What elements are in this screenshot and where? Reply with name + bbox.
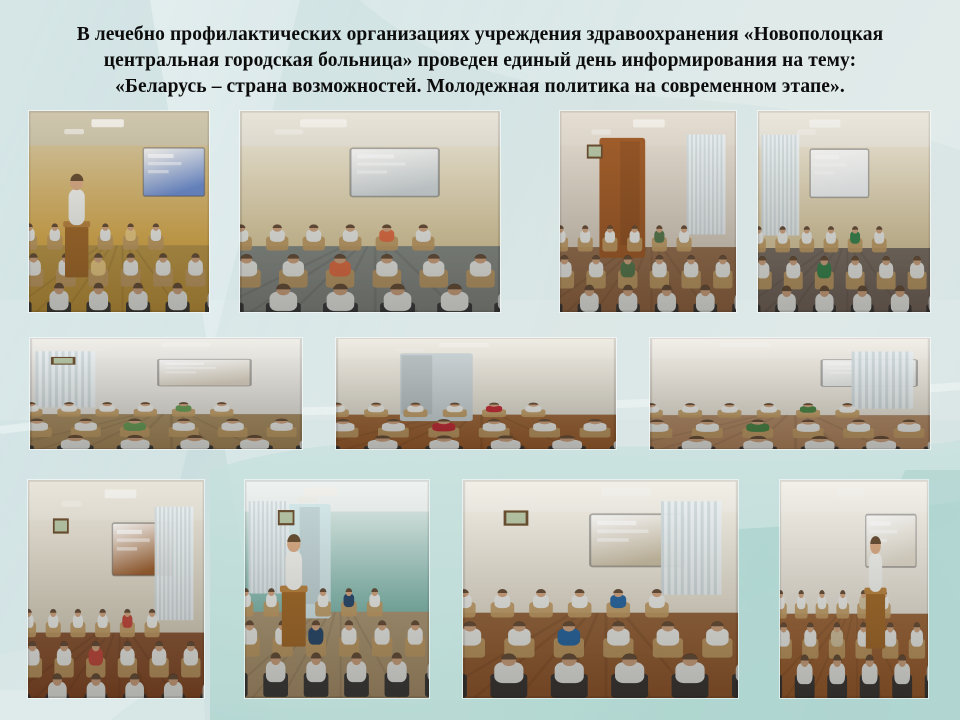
auditorium-nurses-in-white-on-beige-chairs bbox=[30, 338, 302, 449]
large-hall-seated-audience-parquet-floor bbox=[463, 480, 738, 698]
presentation-slide: В лечебно профилактических организациях … bbox=[0, 0, 960, 720]
slide-title: В лечебно профилактических организациях … bbox=[30, 22, 930, 100]
title-line-3: «Беларусь – страна возможностей. Молодеж… bbox=[30, 74, 930, 100]
conference-hall-back-view-with-projection-screen bbox=[758, 111, 930, 312]
lounge-meeting-with-plants-and-sofas bbox=[650, 338, 930, 449]
speaker-at-lectern-in-empty-hall bbox=[780, 480, 928, 698]
row-of-doctors-seated-by-wooden-cabinet bbox=[560, 111, 736, 312]
round-table-discussion-in-office bbox=[28, 480, 204, 698]
lecturer-at-podium-with-projector-screen bbox=[29, 111, 209, 312]
assembly-hall-with-flag-and-tribune bbox=[336, 338, 616, 449]
doctor-presenting-in-mint-green-room bbox=[245, 480, 429, 698]
seated-audience-in-medical-coats-by-window bbox=[240, 111, 500, 312]
title-line-1: В лечебно профилактических организациях … bbox=[30, 22, 930, 48]
title-line-2: центральная городская больница» проведен… bbox=[30, 48, 930, 74]
